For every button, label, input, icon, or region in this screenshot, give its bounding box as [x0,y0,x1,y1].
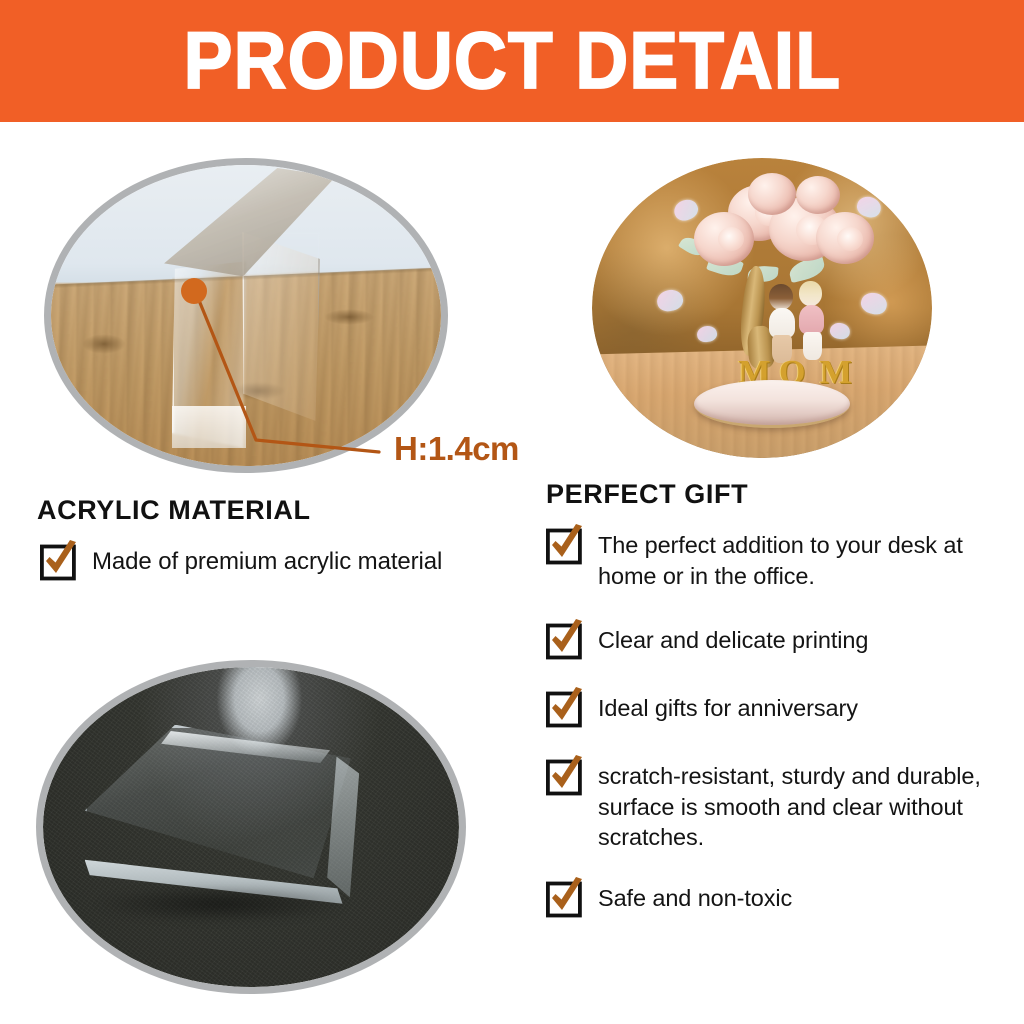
feature-item: scratch-resistant, sturdy and durable, s… [546,755,1006,853]
butterfly [858,290,888,317]
checkbox-checked-icon [546,755,584,797]
sculpture-base [694,380,850,428]
checkbox-checked-icon [546,524,584,566]
feature-text: Clear and delicate printing [598,619,868,656]
photo-mom-sculpture-inner: M O M [592,158,932,458]
photo-acrylic-edge [44,158,448,473]
checkbox-checked-icon [546,877,584,919]
figure-daughter-torso [799,305,824,334]
acrylic-block-drop-shadow [93,885,351,923]
butterfly [655,288,685,314]
feature-text: The perfect addition to your desk at hom… [598,524,1006,591]
floral-sculpture: M O M [592,158,932,458]
feature-list-acrylic-material: Made of premium acrylic material [40,540,510,582]
header-banner: PRODUCT DETAIL [0,0,1024,122]
feature-item: The perfect addition to your desk at hom… [546,524,1006,591]
feature-text: Ideal gifts for anniversary [598,687,858,724]
mom-letter-m-right: M [820,356,852,390]
acrylic-block-base-highlight [172,406,246,448]
butterfly [671,196,701,224]
feature-item: Clear and delicate printing [546,619,1006,661]
rose [796,176,840,214]
page-title: PRODUCT DETAIL [183,21,841,102]
feature-text: Made of premium acrylic material [92,540,442,577]
butterfly [696,325,718,344]
feature-item: Ideal gifts for anniversary [546,687,1006,729]
photo-mom-sculpture: M O M [592,158,932,458]
figure-daughter [799,281,822,306]
heading-acrylic-material: ACRYLIC MATERIAL [37,495,311,526]
figure-mother [769,284,793,310]
feature-list-perfect-gift: The perfect addition to your desk at hom… [546,524,1006,919]
photo-acrylic-block-inner [43,667,459,987]
feature-item: Safe and non-toxic [546,877,1006,919]
checkbox-checked-icon [546,619,584,661]
wood-knot [82,334,126,354]
feature-text: scratch-resistant, sturdy and durable, s… [598,755,1006,853]
photo-acrylic-edge-inner [51,165,441,466]
product-detail-page: PRODUCT DETAIL [0,0,1024,1024]
rose-center [718,227,744,251]
rose-center [837,227,863,251]
feature-text: Safe and non-toxic [598,877,792,914]
heading-perfect-gift: PERFECT GIFT [546,479,748,510]
checkbox-checked-icon [40,540,78,582]
butterfly [829,321,851,340]
feature-item: Made of premium acrylic material [40,540,510,582]
figure-mother-torso [769,308,795,338]
photo-acrylic-block [36,660,466,994]
checkbox-checked-icon [546,687,584,729]
